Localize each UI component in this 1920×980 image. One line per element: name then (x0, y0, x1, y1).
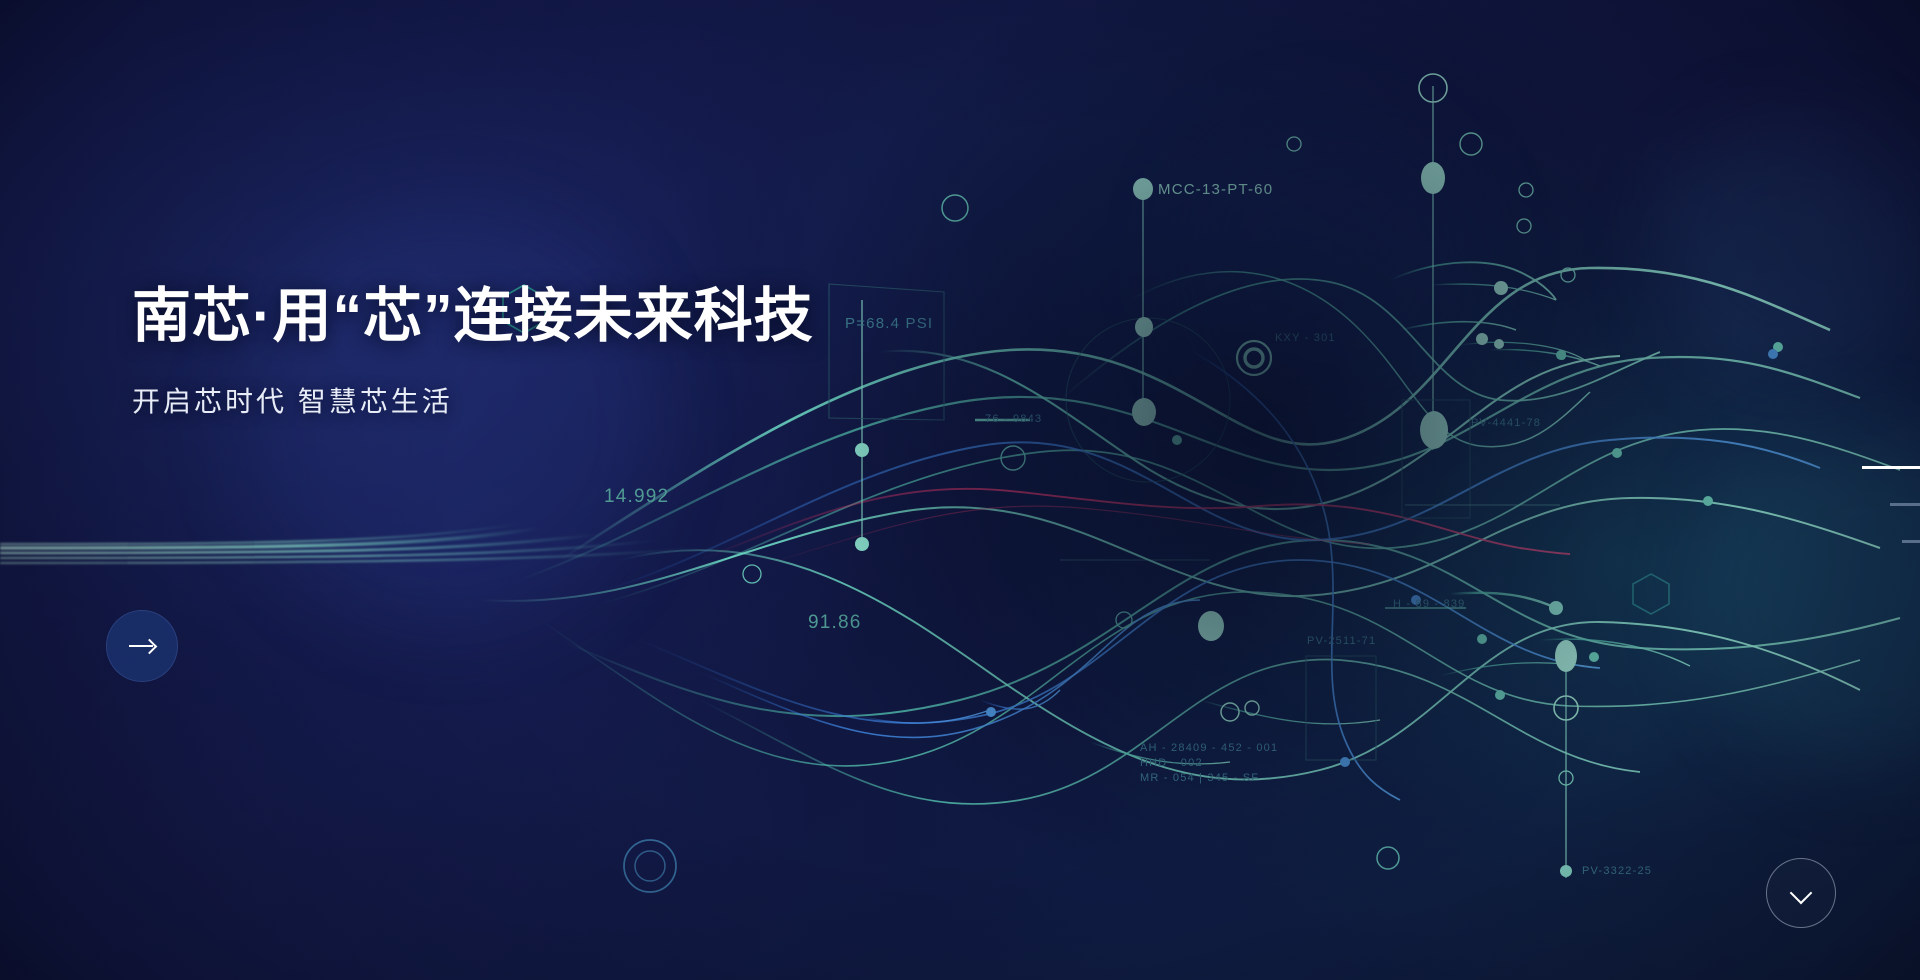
learn-more-button[interactable] (106, 610, 178, 682)
graphic-label-pv2511: PV-2511-71 (1307, 635, 1376, 647)
graphic-label-n91: 91.86 (808, 612, 862, 633)
graphic-label-pv3322: PV-3322-25 (1582, 865, 1652, 877)
network-data-visualization: MCC-13-PT-60P=68.4 PSIKXY - 301PV-4441-7… (0, 0, 1920, 980)
graphic-label-hhd: HHD - 002 (1140, 757, 1203, 769)
graphic-label-n14: 14.992 (604, 486, 669, 507)
graphic-label-h89: H - 89 - 839 (1393, 598, 1465, 610)
hero-banner: MCC-13-PT-60P=68.4 PSIKXY - 301PV-4441-7… (0, 0, 1920, 980)
chevron-down-icon (1791, 883, 1811, 903)
carousel-indicators (1862, 466, 1920, 543)
horizon-lines (0, 524, 700, 563)
page-subtitle: 开启芯时代 智慧芯生活 (132, 384, 1032, 420)
graphic-label-mcc: MCC-13-PT-60 (1158, 181, 1273, 198)
graphic-label-mr: MR - 054 | 345 - SF (1140, 772, 1259, 784)
graphic-label-ah: AH - 28409 - 452 - 001 (1140, 742, 1278, 754)
graphic-label-pv4441: PV-4441-78 (1471, 417, 1541, 429)
graphic-label-kxy: KXY - 301 (1275, 332, 1336, 344)
scroll-down-button[interactable] (1766, 858, 1836, 928)
hero-copy: 南芯·用“芯”连接未来科技 开启芯时代 智慧芯生活 (132, 282, 1032, 421)
carousel-indicator-slide-3[interactable] (1902, 540, 1920, 543)
page-title: 南芯·用“芯”连接未来科技 (132, 282, 1032, 350)
carousel-indicator-slide-2[interactable] (1890, 503, 1920, 506)
carousel-indicator-slide-1[interactable] (1862, 466, 1920, 469)
arrow-right-icon (129, 640, 155, 652)
